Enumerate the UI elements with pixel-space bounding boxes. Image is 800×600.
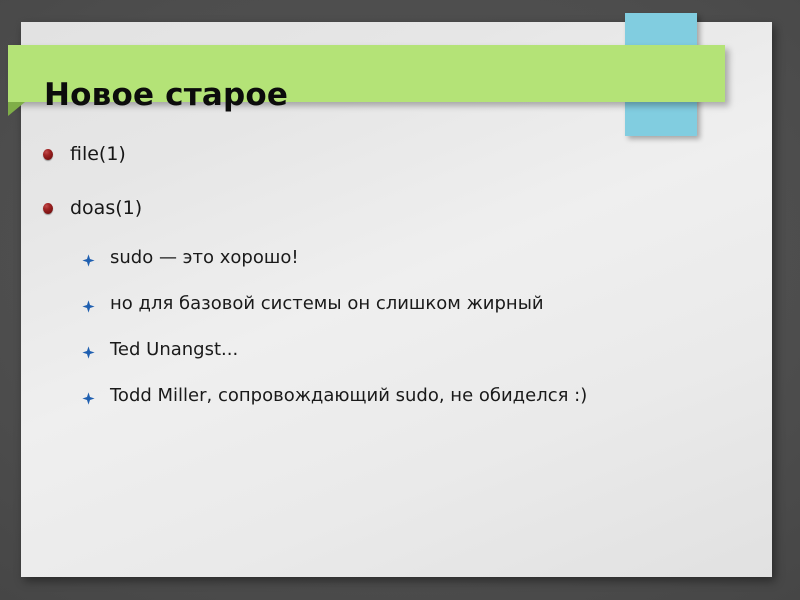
list-item-label: Ted Unangst... xyxy=(110,339,238,360)
list-item: sudo — это хорошо! xyxy=(40,246,730,269)
list-item: file(1) xyxy=(40,142,730,166)
list-item-label: Todd Miller, сопровождающий sudo, не оби… xyxy=(110,385,587,406)
slide-body-content: file(1) doas(1) sudo — это хорошо! xyxy=(40,142,730,430)
list-item: Todd Miller, сопровождающий sudo, не оби… xyxy=(40,384,730,407)
list-item-label: sudo — это хорошо! xyxy=(110,247,299,268)
list-item: Ted Unangst... xyxy=(40,338,730,361)
slide-title: Новое старое xyxy=(44,71,704,119)
blue-star-bullet-icon xyxy=(82,250,95,263)
red-sphere-bullet-icon xyxy=(43,203,53,214)
list-item: но для базовой системы он слишком жирный xyxy=(40,292,730,315)
list-item-label: file(1) xyxy=(70,143,126,165)
list-item-label: но для базовой системы он слишком жирный xyxy=(110,293,544,314)
blue-star-bullet-icon xyxy=(82,388,95,401)
sub-list: sudo — это хорошо! но для базовой систем… xyxy=(40,246,730,407)
green-corner-fold-icon xyxy=(8,102,25,116)
blue-star-bullet-icon xyxy=(82,342,95,355)
red-sphere-bullet-icon xyxy=(43,149,53,160)
slide-canvas: Новое старое file(1) doas(1) sudo xyxy=(21,22,772,577)
presentation-viewer: Новое старое file(1) doas(1) sudo xyxy=(0,0,800,600)
list-item: doas(1) xyxy=(40,196,730,220)
blue-star-bullet-icon xyxy=(82,296,95,309)
list-item-label: doas(1) xyxy=(70,197,142,219)
